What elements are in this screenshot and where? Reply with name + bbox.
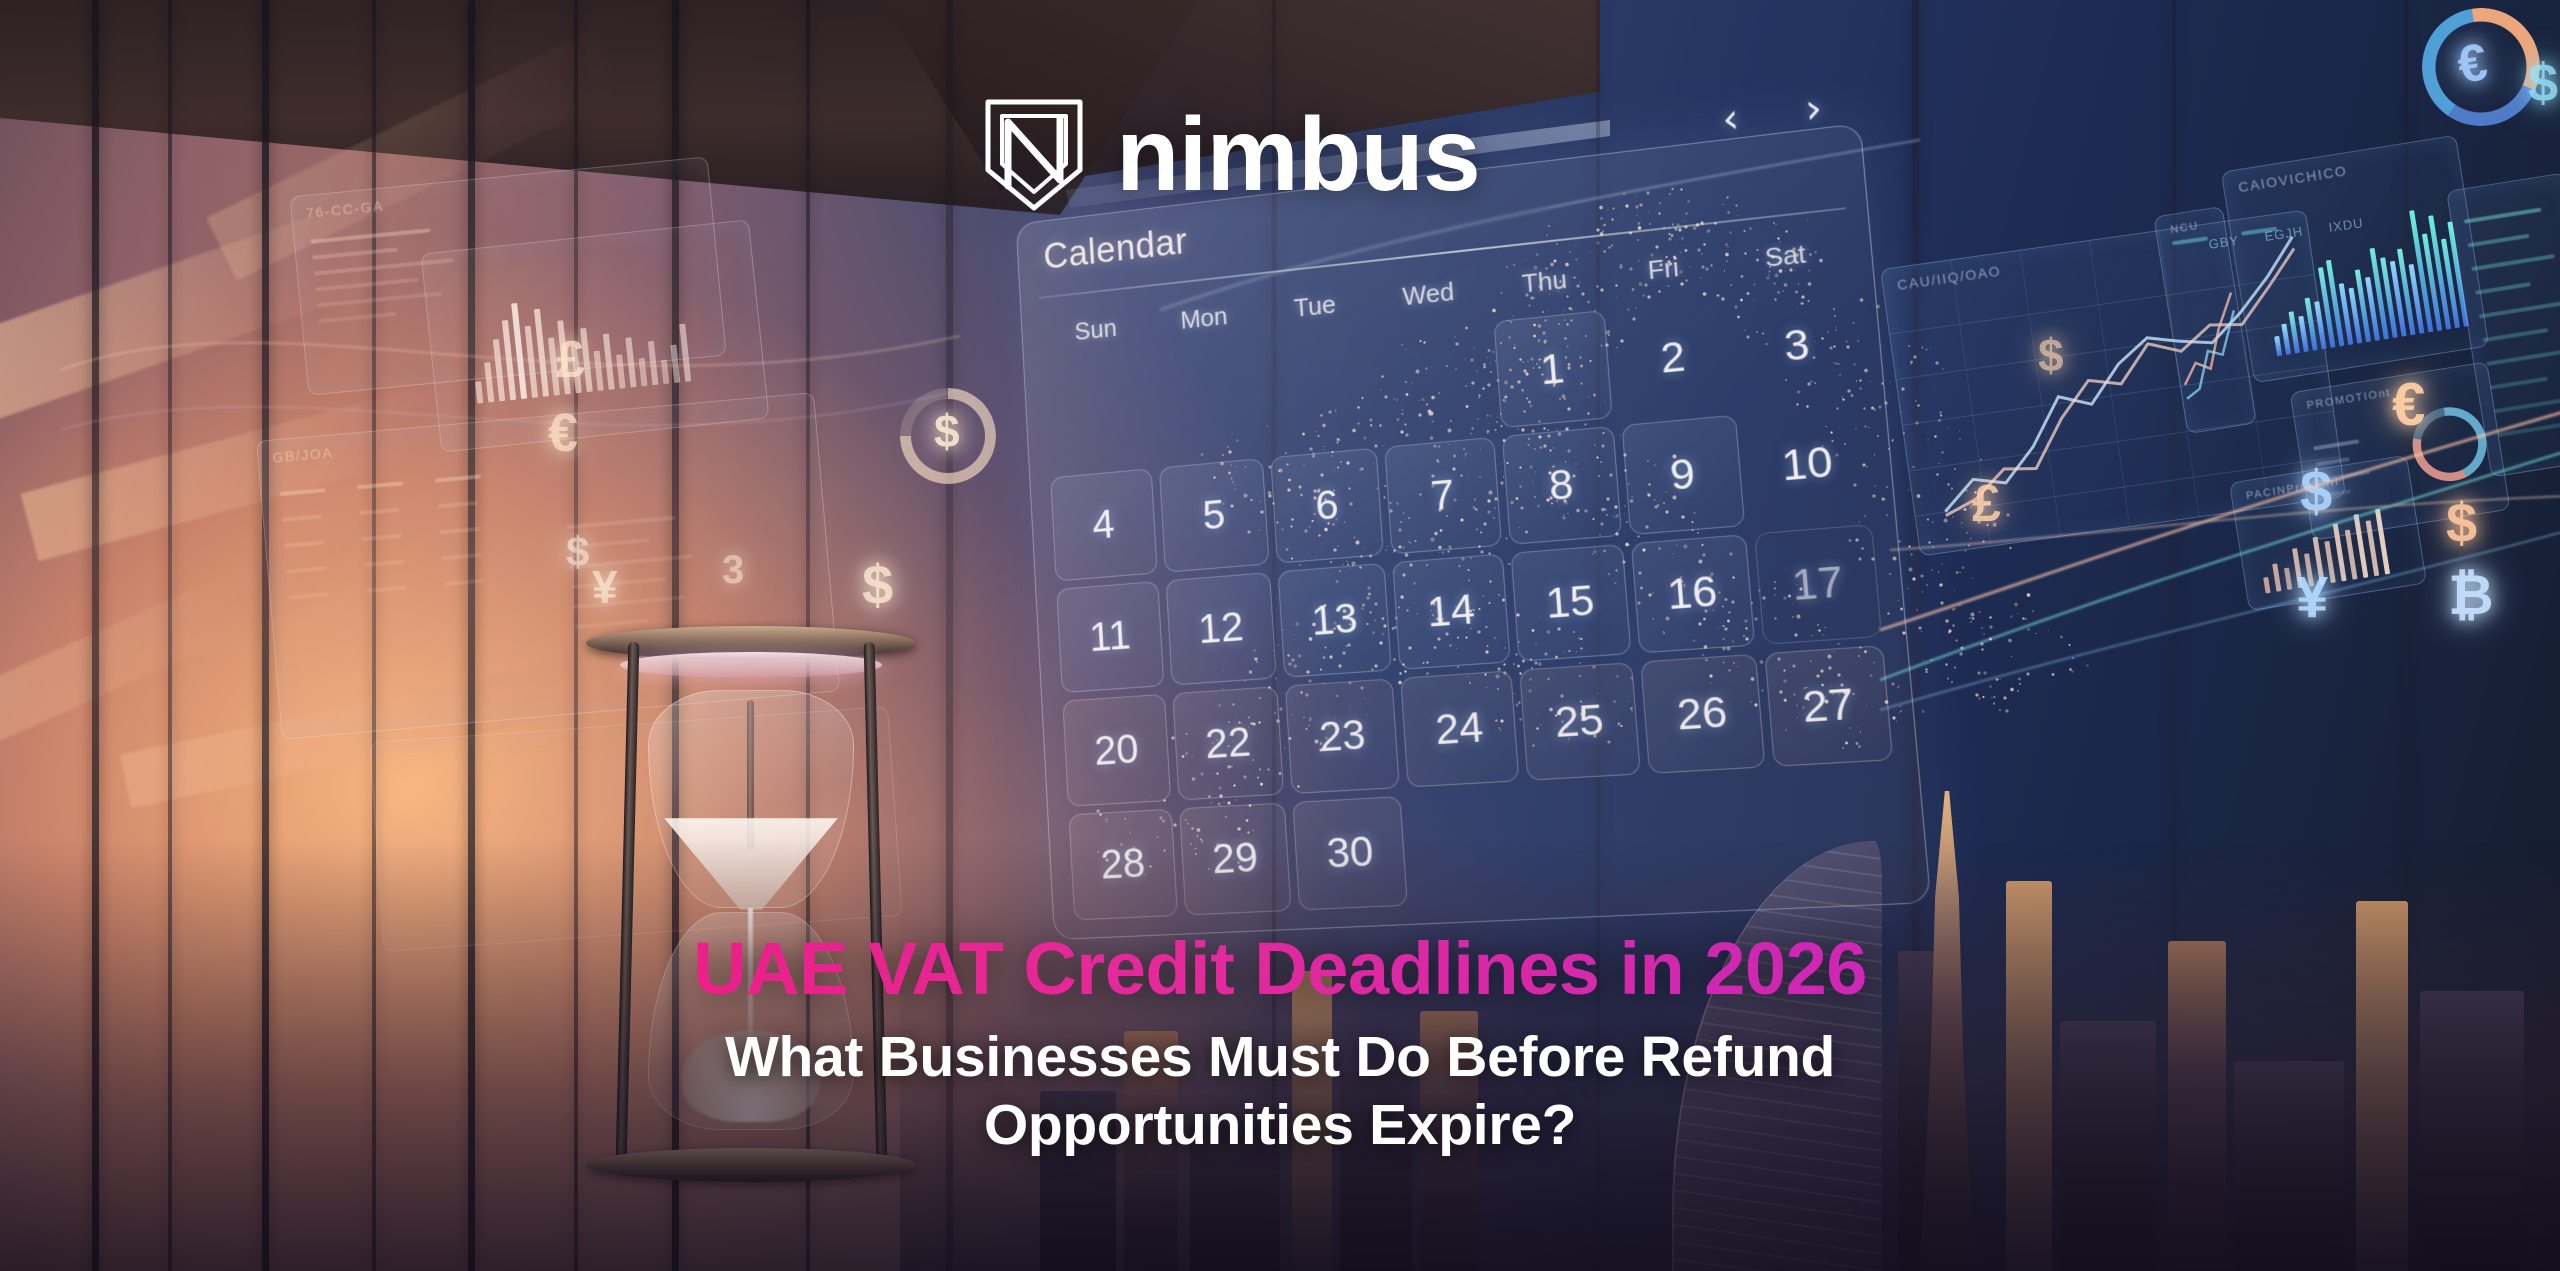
chevron-left-icon[interactable]: ‹ — [1721, 99, 1741, 141]
data-ribbon-flow — [60, 250, 960, 550]
calendar-cell-day[interactable]: 17 — [1754, 524, 1882, 645]
calendar-day-header: Wed — [1369, 259, 1488, 328]
calendar-cell-day[interactable]: 3 — [1734, 285, 1860, 407]
calendar-day-header: Thu — [1484, 246, 1606, 316]
calendar-day-header: Sun — [1041, 296, 1151, 362]
calendar-cell-empty — [1152, 346, 1262, 460]
calendar-widget[interactable]: ‹ › Calendar Sun Mon Tue Wed Thu Fri Sat… — [1016, 123, 1932, 940]
calendar-cell-day[interactable]: 26 — [1640, 654, 1765, 774]
calendar-cell-day[interactable]: 15 — [1510, 544, 1631, 662]
calendar-cell-empty — [1044, 358, 1151, 471]
hud-panel-label: 76-CC-GA — [305, 198, 384, 221]
currency-glyph-dollar-icon: $ — [2528, 52, 2558, 114]
calendar-cell-day[interactable]: 27 — [1764, 645, 1893, 766]
headline-block: UAE VAT Credit Deadlines in 2026 What Bu… — [0, 930, 2560, 1159]
calendar-grid[interactable]: 1 2 3 4 5 6 7 8 9 10 11 12 13 14 15 16 1… — [1044, 285, 1904, 921]
page-title: UAE VAT Credit Deadlines in 2026 — [0, 930, 2560, 1008]
hud-panel-label: CAIOVICHICO — [2237, 162, 2348, 195]
calendar-cell-empty — [1377, 322, 1493, 439]
calendar-cell-day[interactable]: 4 — [1050, 469, 1158, 582]
calendar-day-header: Fri — [1601, 233, 1726, 304]
page-subtitle-line2: Opportunities Expire? — [0, 1092, 2560, 1159]
calendar-cell-day[interactable]: 9 — [1621, 415, 1745, 535]
currency-glyph-yen-icon: ¥ — [592, 560, 618, 614]
brand-name: nimbus — [1116, 103, 1480, 207]
calendar-cell-day[interactable]: 23 — [1285, 679, 1400, 794]
calendar-day-header: Mon — [1148, 284, 1261, 351]
calendar-cell-day[interactable]: 14 — [1393, 553, 1511, 670]
calendar-cell-day[interactable]: 11 — [1056, 581, 1164, 693]
calendar-cell-day[interactable]: 1 — [1493, 310, 1612, 429]
calendar-cell-day[interactable]: 12 — [1166, 572, 1277, 686]
page-subtitle-line1: What Businesses Must Do Before Refund — [0, 1024, 2560, 1091]
chevron-right-icon[interactable]: › — [1803, 88, 1823, 130]
calendar-day-header: Tue — [1257, 272, 1373, 340]
currency-glyph-dollar-icon: $ — [862, 552, 893, 617]
calendar-cell-day[interactable]: 20 — [1062, 694, 1171, 806]
calendar-cell-day[interactable]: 6 — [1271, 448, 1385, 563]
brand-logo[interactable]: nimbus — [982, 96, 1480, 214]
calendar-cell-day[interactable]: 7 — [1385, 437, 1502, 554]
calendar-navigation[interactable]: ‹ › — [1721, 88, 1824, 140]
calendar-cell-day[interactable]: 10 — [1744, 404, 1871, 525]
calendar-cell-day[interactable]: 2 — [1612, 297, 1735, 417]
nimbus-shield-n-logo-icon — [982, 96, 1086, 214]
calendar-cell-day[interactable]: 5 — [1159, 458, 1270, 572]
calendar-cell-day[interactable]: 16 — [1631, 534, 1755, 654]
calendar-cell-day[interactable]: 22 — [1172, 686, 1284, 800]
calendar-cell-day[interactable]: 25 — [1519, 662, 1641, 780]
calendar-cell-day[interactable]: 24 — [1401, 671, 1519, 788]
calendar-cell-empty — [1263, 334, 1376, 450]
banner-canvas: 76-CC-GA — [0, 0, 2560, 1271]
currency-glyph-three-icon: 3 — [722, 548, 744, 593]
calendar-day-header: Sat — [1721, 220, 1849, 292]
calendar-cell-day[interactable]: 13 — [1278, 563, 1392, 678]
page-subtitle: What Businesses Must Do Before Refund Op… — [0, 1024, 2560, 1159]
calendar-cell-day[interactable]: 8 — [1502, 426, 1622, 544]
calendar-title: Calendar — [1042, 222, 1188, 279]
data-ribbon-flow — [1880, 300, 2560, 720]
